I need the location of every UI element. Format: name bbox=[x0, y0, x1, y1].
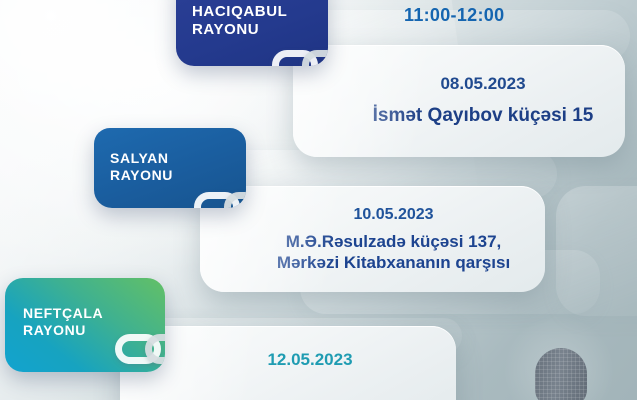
district-label-line1: NEFTÇALA bbox=[23, 305, 165, 322]
event-date: 08.05.2023 bbox=[440, 74, 525, 94]
poster-stage: 11:00-12:00 HACIQABUL RAYONU 08.05.2023 … bbox=[0, 0, 637, 400]
chain-link-ring-left bbox=[272, 50, 318, 66]
event-date: 12.05.2023 bbox=[267, 350, 352, 370]
event-card-salyan: 10.05.2023 M.Ə.Rəsulzadə küçəsi 137, Mər… bbox=[200, 186, 545, 292]
background-panel-5 bbox=[556, 186, 637, 316]
event-card-haciqabul: 08.05.2023 İsmət Qayıbov küçəsi 15 bbox=[293, 45, 625, 157]
event-date: 10.05.2023 bbox=[353, 205, 433, 224]
event-address-line2: Mərkəzi Kitabxananın qarşısı bbox=[277, 252, 510, 273]
district-label-line1: HACIQABUL bbox=[192, 3, 328, 21]
event-card-neftcala: 12.05.2023 bbox=[120, 326, 456, 400]
district-label-salyan: SALYAN RAYONU bbox=[94, 128, 246, 208]
district-label-line2: RAYONU bbox=[192, 21, 328, 39]
microphone-icon bbox=[521, 326, 601, 400]
district-label-haciqabul: HACIQABUL RAYONU bbox=[176, 0, 328, 66]
district-label-line2: RAYONU bbox=[110, 167, 246, 184]
microphone-mesh bbox=[535, 348, 587, 400]
district-label-line2: RAYONU bbox=[23, 322, 165, 339]
event-address-line1: İsmət Qayıbov küçəsi 15 bbox=[373, 104, 594, 128]
event-address-line1: M.Ə.Rəsulzadə küçəsi 137, bbox=[286, 231, 502, 252]
district-label-line1: SALYAN bbox=[110, 150, 246, 167]
chain-link-ring-left bbox=[194, 192, 240, 208]
district-label-neftcala: NEFTÇALA RAYONU bbox=[5, 278, 165, 372]
microphone-head bbox=[535, 348, 587, 400]
time-heading: 11:00-12:00 bbox=[404, 5, 504, 26]
chain-link-icon bbox=[272, 46, 328, 66]
